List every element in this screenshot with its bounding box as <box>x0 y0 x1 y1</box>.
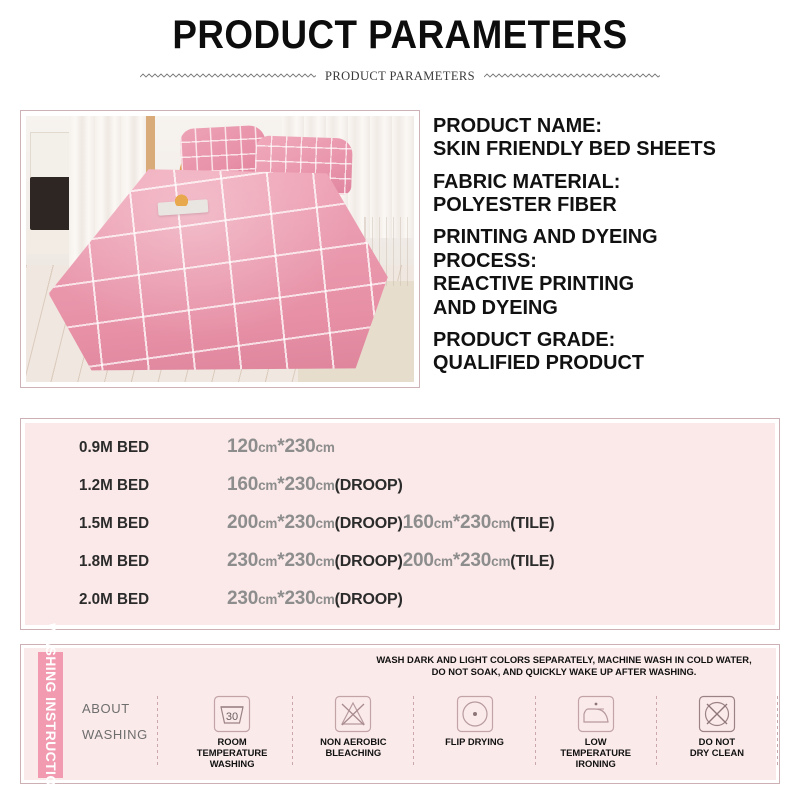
table-row: 1.5M BED 200cm*230cm(DROOP)160cm*230cm(T… <box>25 512 775 550</box>
size-dimensions: 120cm*230cm <box>227 436 335 458</box>
product-overview-section: PRODUCT NAME: SKIN FRIENDLY BED SHEETS F… <box>0 110 800 402</box>
size-bed-label: 1.5M BED <box>79 515 220 533</box>
spec-value: POLYESTER FIBER <box>433 193 774 216</box>
washing-instructions-inner: WASHING INSTRUCTIONS ABOUT WASHING WASH … <box>24 648 776 780</box>
care-line-1: WASH DARK AND LIGHT COLORS SEPARATELY, M… <box>354 654 774 666</box>
svg-text:30: 30 <box>226 711 238 723</box>
about-washing-line2: WASHING <box>82 722 148 748</box>
size-bed-label: 0.9M BED <box>79 439 220 457</box>
table-row: 1.2M BED 160cm*230cm(DROOP) <box>25 474 775 512</box>
care-symbol-non-aerobic-bleaching: NON AEROBIC BLEACHING <box>293 694 413 759</box>
size-chart-panel: 0.9M BED 120cm*230cm 1.2M BED 160cm*230c… <box>20 418 780 630</box>
care-symbol-do-not-dry-clean: DO NOT DRY CLEAN <box>657 694 777 759</box>
page-title: PRODUCT PARAMETERS <box>32 14 768 56</box>
size-dimensions: 230cm*230cm(DROOP)200cm*230cm(TILE) <box>227 550 554 572</box>
care-line-2: DO NOT SOAK, AND QUICKLY WAKE UP AFTER W… <box>354 666 774 678</box>
care-symbol-caption: NON AEROBIC BLEACHING <box>320 737 386 759</box>
spec-printing-dyeing-process: PRINTING AND DYEING PROCESS: REACTIVE PR… <box>433 225 785 318</box>
do-not-dry-clean-icon <box>697 694 737 734</box>
product-photo-frame <box>20 110 420 388</box>
spec-label: PRODUCT NAME: <box>433 114 774 137</box>
care-instruction-text: WASH DARK AND LIGHT COLORS SEPARATELY, M… <box>354 654 774 679</box>
care-symbol-caption: DO NOT DRY CLEAN <box>690 737 744 759</box>
washing-instructions-panel: WASHING INSTRUCTIONS ABOUT WASHING WASH … <box>20 644 780 784</box>
product-photo <box>26 116 414 382</box>
size-dimensions: 230cm*230cm(DROOP) <box>227 588 403 610</box>
washing-instructions-tab: WASHING INSTRUCTIONS <box>38 652 63 778</box>
table-row: 1.8M BED 230cm*230cm(DROOP)200cm*230cm(T… <box>25 550 775 588</box>
size-dimensions: 200cm*230cm(DROOP)160cm*230cm(TILE) <box>227 512 554 534</box>
low-temp-iron-icon <box>576 694 616 734</box>
spec-label: FABRIC MATERIAL: <box>433 170 774 193</box>
size-bed-label: 1.8M BED <box>79 553 220 571</box>
size-dimensions: 160cm*230cm(DROOP) <box>227 474 403 496</box>
spec-product-grade: PRODUCT GRADE: QUALIFIED PRODUCT <box>433 328 785 375</box>
table-row: 0.9M BED 120cm*230cm <box>25 436 775 474</box>
spec-label-cont: PROCESS: <box>433 249 774 272</box>
spec-fabric-material: FABRIC MATERIAL: POLYESTER FIBER <box>433 170 785 217</box>
spec-product-name: PRODUCT NAME: SKIN FRIENDLY BED SHEETS <box>433 114 785 161</box>
care-symbol-caption: LOW TEMPERATURE IRONING <box>560 737 631 770</box>
spec-label: PRODUCT GRADE: <box>433 328 774 351</box>
product-spec-list: PRODUCT NAME: SKIN FRIENDLY BED SHEETS F… <box>433 110 785 402</box>
wash-tub-30-icon: 30 <box>212 694 252 734</box>
page-header: PRODUCT PARAMETERS PRODUCT PARAMETERS <box>0 0 800 84</box>
size-chart-inner: 0.9M BED 120cm*230cm 1.2M BED 160cm*230c… <box>25 423 775 625</box>
spec-value: SKIN FRIENDLY BED SHEETS <box>433 137 774 160</box>
wave-divider-left-icon <box>140 72 316 81</box>
care-symbol-row: 30 ROOM TEMPERATURE WASHING NON AEROBIC … <box>172 694 778 786</box>
spec-value: QUALIFIED PRODUCT <box>433 351 774 374</box>
washing-instructions-tab-label: WASHING INSTRUCTIONS <box>43 623 59 807</box>
spec-label: PRINTING AND DYEING <box>433 225 774 248</box>
wave-divider-right-icon <box>484 72 660 81</box>
no-bleach-icon <box>333 694 373 734</box>
size-bed-label: 2.0M BED <box>79 591 220 609</box>
about-washing-label: ABOUT WASHING <box>82 696 148 748</box>
dotted-divider <box>157 696 158 768</box>
dotted-divider <box>777 696 778 768</box>
about-washing-line1: ABOUT <box>82 696 148 722</box>
subtitle-row: PRODUCT PARAMETERS <box>0 69 800 84</box>
care-symbol-caption: FLIP DRYING <box>445 737 504 748</box>
care-symbol-low-temperature-ironing: LOW TEMPERATURE IRONING <box>536 694 656 770</box>
tumble-dry-icon <box>455 694 495 734</box>
table-row: 2.0M BED 230cm*230cm(DROOP) <box>25 588 775 626</box>
care-symbol-flip-drying: FLIP DRYING <box>414 694 534 748</box>
size-bed-label: 1.2M BED <box>79 477 220 495</box>
page-subtitle: PRODUCT PARAMETERS <box>325 69 475 84</box>
spec-value: REACTIVE PRINTING <box>433 272 774 295</box>
care-symbol-caption: ROOM TEMPERATURE WASHING <box>197 737 268 770</box>
spec-value-cont: AND DYEING <box>433 296 774 319</box>
care-symbol-room-temperature-washing: 30 ROOM TEMPERATURE WASHING <box>172 694 292 770</box>
